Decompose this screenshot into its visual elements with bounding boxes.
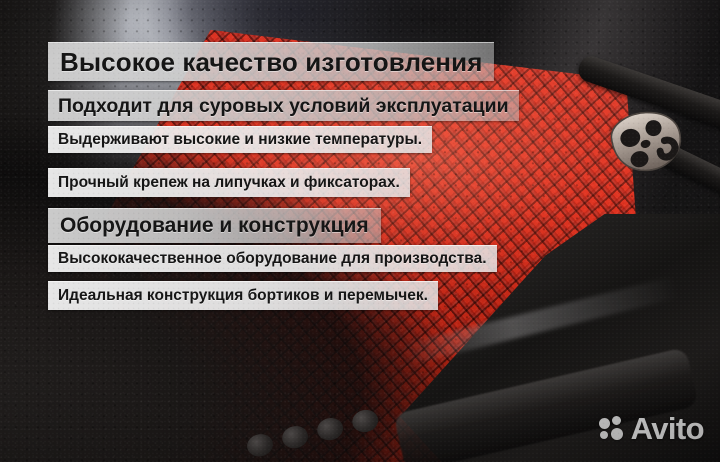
listing-image: Высокое качество изготовления Подходит д… — [0, 0, 720, 462]
overlay-band-fasteners: Прочный крепеж на липучках и фиксаторах. — [48, 168, 410, 197]
overlay-band-heading-quality: Высокое качество изготовления — [48, 42, 494, 81]
overlay-band-temperature: Выдерживают высокие и низкие температуры… — [48, 126, 432, 153]
overlay-band-heading-equipment: Оборудование и конструкция — [48, 208, 381, 243]
overlay-band-heading-conditions: Подходит для суровых условий эксплуатаци… — [48, 90, 519, 121]
avito-watermark: Avito — [599, 413, 704, 444]
overlay-band-production: Высококачественное оборудование для прои… — [48, 245, 497, 272]
avito-wordmark: Avito — [631, 413, 704, 444]
avito-dots-icon — [599, 416, 624, 441]
overlay-band-construction: Идеальная конструкция бортиков и перемыч… — [48, 281, 438, 310]
